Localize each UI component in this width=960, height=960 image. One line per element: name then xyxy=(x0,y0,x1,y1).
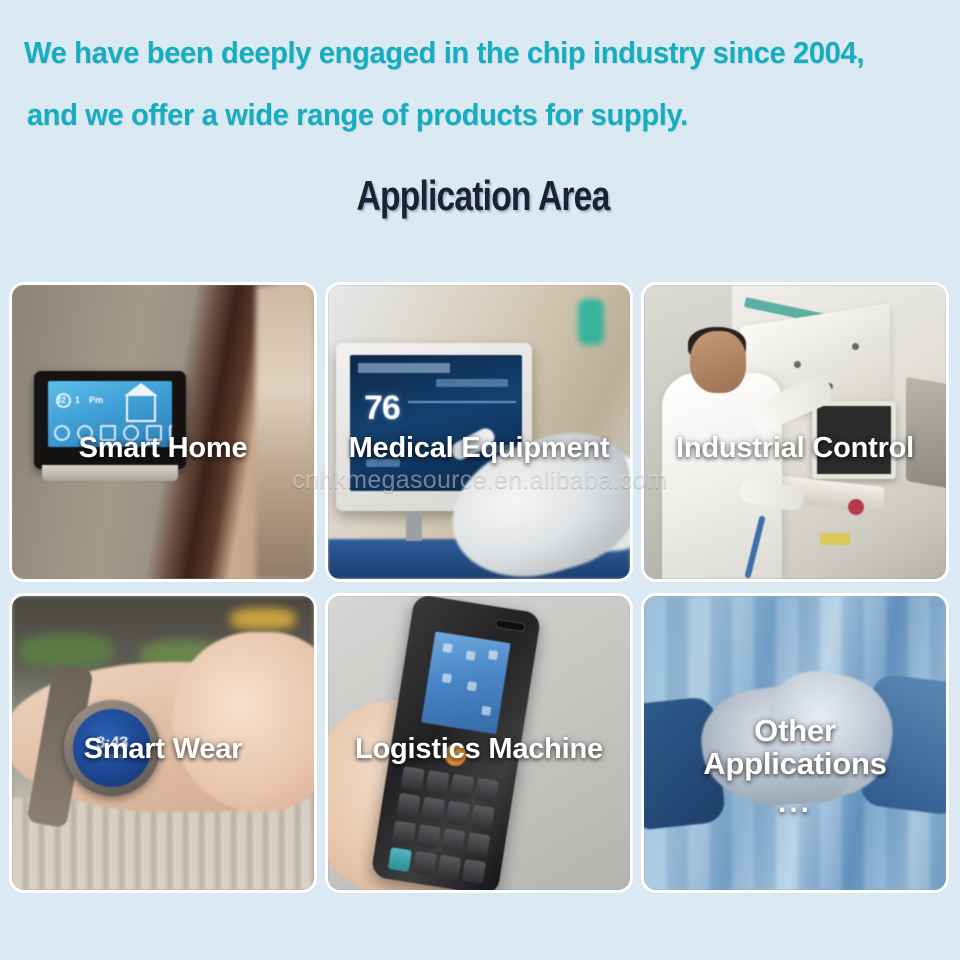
panel-status-row: 32 1 Pm xyxy=(56,395,103,405)
keypad-key xyxy=(446,801,470,826)
application-card-logistics-machine[interactable]: Logistics Machine xyxy=(328,596,630,890)
page-header: We have been deeply engaged in the chip … xyxy=(0,0,960,224)
card-label-industrial-control: Industrial Control xyxy=(644,433,946,464)
weather-sun-icon xyxy=(56,393,71,408)
keypad-key xyxy=(462,859,486,884)
keypad-key xyxy=(401,766,425,791)
keypad-key xyxy=(441,828,465,853)
application-card-other-applications[interactable]: Other Applications ... xyxy=(644,596,946,890)
headline-line-2: and we offer a wide range of products fo… xyxy=(24,84,887,146)
monitor-stand xyxy=(406,511,422,541)
machine-screw-1 xyxy=(794,361,801,368)
home-icon xyxy=(126,395,156,422)
monitor-field-1 xyxy=(436,379,508,387)
keypad-key xyxy=(396,793,420,818)
terminal-screen xyxy=(421,631,510,734)
technician-head xyxy=(690,331,746,393)
application-card-smart-home[interactable]: 32 1 Pm Smart Home xyxy=(12,285,314,579)
terminal-app-icon-6 xyxy=(481,706,491,716)
room-background xyxy=(256,285,314,579)
device-speaker xyxy=(495,619,526,633)
card-label-other-applications: Other Applications ... xyxy=(644,714,946,819)
card-label-smart-wear: Smart Wear xyxy=(12,734,314,765)
card-label-medical-equipment: Medical Equipment xyxy=(328,433,630,464)
card-label-logistics-machine: Logistics Machine xyxy=(328,734,630,765)
emergency-stop-button xyxy=(848,499,864,515)
terminal-app-icon-2 xyxy=(466,651,476,661)
teal-cap-accent xyxy=(578,299,604,345)
page-title: Application Area xyxy=(116,168,850,224)
keypad-key xyxy=(417,824,441,849)
panel-unit-suffix: Pm xyxy=(89,395,103,405)
keypad-key xyxy=(450,774,474,799)
application-card-medical-equipment[interactable]: 76 Medical Equipment xyxy=(328,285,630,579)
card-label-other-line-1: Other xyxy=(754,713,836,748)
panel-base xyxy=(42,465,178,481)
headline-line-1: We have been deeply engaged in the chip … xyxy=(24,22,887,84)
keypad-key xyxy=(392,820,416,845)
keypad-key xyxy=(466,832,490,857)
hedge-left xyxy=(18,634,114,668)
device-keypad xyxy=(388,766,499,884)
card-label-smart-home: Smart Home xyxy=(12,433,314,464)
keypad-key xyxy=(412,851,436,876)
card-label-other-line-2: Applications xyxy=(703,746,887,781)
warning-label xyxy=(820,533,850,545)
keypad-function-key xyxy=(388,847,412,872)
machine-screw-3 xyxy=(852,343,859,350)
keypad-key xyxy=(470,805,494,830)
waveform-line xyxy=(408,401,516,403)
terminal-app-icon-3 xyxy=(488,650,498,660)
warm-light-bokeh xyxy=(230,608,296,630)
panel-unit: 1 xyxy=(75,395,80,405)
monitor-reading: 76 xyxy=(364,389,400,428)
monitor-top-bar xyxy=(358,363,450,373)
terminal-app-icon-4 xyxy=(442,673,452,683)
keypad-key xyxy=(425,770,449,795)
terminal-app-icon-1 xyxy=(442,643,452,653)
terminal-app-icon-5 xyxy=(467,681,477,691)
keypad-key xyxy=(475,778,499,803)
application-area-grid: 32 1 Pm Smart Home xyxy=(12,285,948,890)
application-card-industrial-control[interactable]: Industrial Control xyxy=(644,285,946,579)
card-label-other-dots: ... xyxy=(644,787,946,819)
application-card-smart-wear[interactable]: 3:43 Thursday Smart Wear xyxy=(12,596,314,890)
keypad-key xyxy=(421,797,445,822)
keypad-key xyxy=(437,855,461,880)
